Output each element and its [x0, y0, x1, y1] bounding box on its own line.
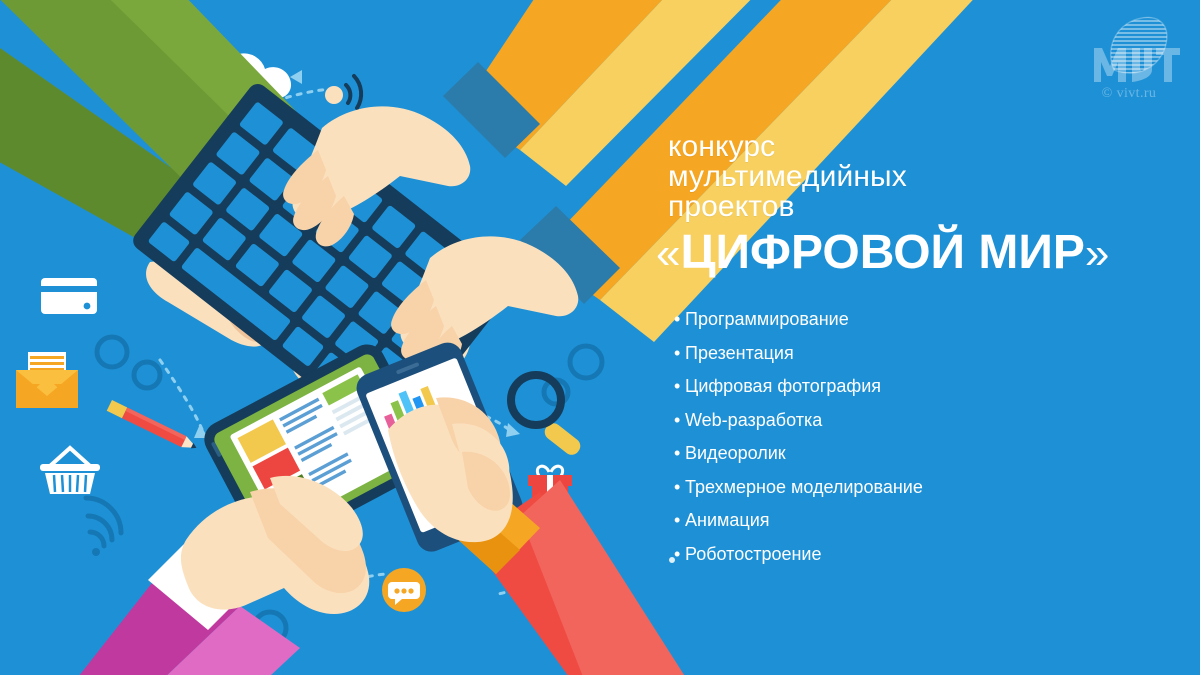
watermark-logo: © vivt.ru [1074, 12, 1184, 116]
list-item: •Презентация [674, 343, 1168, 363]
title-open-quote: « [656, 229, 680, 278]
poster-root: % [0, 0, 1200, 675]
list-item: •Роботостроение [674, 544, 1168, 564]
subtitle-line-3: проектов [668, 192, 1168, 222]
category-label: Программирование [685, 309, 849, 329]
category-label: Презентация [685, 343, 794, 363]
bullet-icon: • [674, 443, 685, 463]
copyright-credit: © vivt.ru [1074, 86, 1184, 102]
bullet-icon: • [674, 477, 685, 497]
bullet-icon: • [674, 410, 685, 430]
text-column: конкурс мультимедийных проектов «ЦИФРОВО… [668, 132, 1168, 580]
bullet-icon: • [674, 544, 685, 564]
category-label: Трехмерное моделирование [685, 477, 923, 497]
bullet-icon: • [674, 309, 685, 329]
list-item: •Трехмерное моделирование [674, 477, 1168, 497]
bullet-icon: • [674, 510, 685, 530]
list-item: •Программирование [674, 309, 1168, 329]
category-label: Роботостроение [685, 544, 822, 564]
bullet-icon: • [674, 343, 685, 363]
subtitle-line-2: мультимедийных [668, 162, 1168, 192]
title-close-quote: » [1085, 229, 1109, 278]
category-label: Цифровая фотография [685, 376, 881, 396]
vivt-logo-icon [1074, 12, 1184, 92]
chat-bubble-icon [382, 568, 426, 612]
page-title: «ЦИФРОВОЙ МИР» [656, 228, 1168, 279]
title-text: ЦИФРОВОЙ МИР [680, 226, 1084, 279]
categories-list: •Программирование •Презентация •Цифровая… [674, 309, 1168, 564]
subtitle-line-1: конкурс [668, 132, 1168, 162]
credit-card-icon [41, 278, 97, 314]
bullet-icon: • [674, 376, 685, 396]
list-item: •Web-разработка [674, 410, 1168, 430]
list-item: •Анимация [674, 510, 1168, 530]
list-item: •Цифровая фотография [674, 376, 1168, 396]
category-label: Web-разработка [685, 410, 822, 430]
list-item: •Видеоролик [674, 443, 1168, 463]
subtitle-block: конкурс мультимедийных проектов [668, 132, 1168, 222]
category-label: Видеоролик [685, 443, 786, 463]
category-label: Анимация [685, 510, 770, 530]
